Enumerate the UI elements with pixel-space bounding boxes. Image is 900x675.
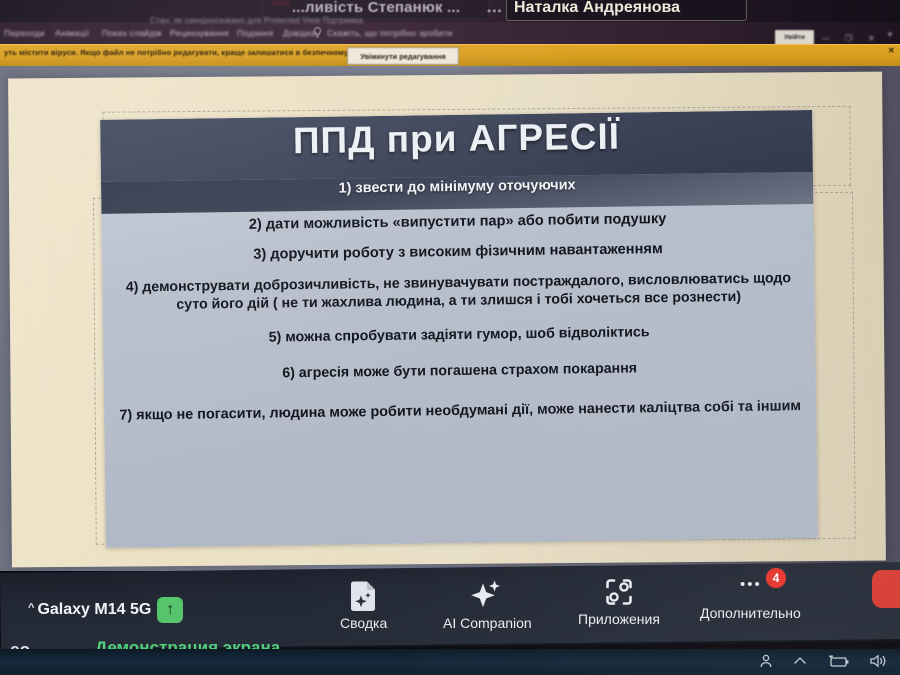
device-name-label: Galaxy M14 5G bbox=[37, 601, 151, 619]
toolbar-item-ai-companion[interactable]: AI Companion bbox=[443, 578, 532, 631]
toolbar-item-more[interactable]: Дополнительно bbox=[700, 605, 801, 621]
ribbon-item-slideshow[interactable]: Показ слайдів bbox=[102, 28, 162, 38]
chevron-up-icon[interactable] bbox=[792, 653, 808, 669]
toolbar-item-apps[interactable]: Приложения bbox=[578, 574, 660, 627]
participant-tile-active[interactable]: Наталка Андреянова bbox=[506, 0, 747, 21]
close-icon[interactable]: ✕ bbox=[888, 46, 895, 55]
chevron-up-icon[interactable]: ^ bbox=[28, 602, 34, 614]
window-minimize-button[interactable]: — bbox=[822, 34, 830, 43]
lightbulb-icon bbox=[313, 27, 322, 38]
sign-in-button[interactable]: Увійти bbox=[775, 30, 814, 45]
share-up-arrow-icon[interactable]: ↑ bbox=[157, 597, 183, 623]
toolbar-label-apps: Приложения bbox=[578, 611, 660, 627]
slide-item-3: 3) доручити роботу з високим фізичним на… bbox=[102, 239, 814, 267]
window-close-button[interactable]: ✕ bbox=[868, 34, 875, 43]
protected-view-message: уть містити віруси. Якщо файл не потрібн… bbox=[4, 48, 584, 57]
slide-body-text: 2) дати можливість «випустити пар» або п… bbox=[101, 206, 816, 437]
slide-item-6: 6) агресія може бути погашена страхом по… bbox=[104, 358, 816, 385]
ribbon-item-tell-me[interactable]: Скажіть, що потрібно зробити bbox=[327, 28, 453, 38]
slide-item-5: 5) можна спробувати задіяти гумор, шоб в… bbox=[103, 322, 815, 349]
slide-item-7: 7) якщо не погасити, людина може робити … bbox=[104, 397, 816, 426]
toolbar-label-more: Дополнительно bbox=[700, 605, 801, 621]
ribbon-item-help[interactable]: Довідка bbox=[283, 28, 316, 38]
screen-photo: ...ливість Степанюк ... ••• Наталка Андр… bbox=[0, 0, 900, 675]
slide-picture[interactable]: ППД при АГРЕСІЇ 1) звести до мінімуму от… bbox=[100, 110, 818, 548]
more-badge: 4 bbox=[765, 567, 787, 589]
toolbar-label-summary: Сводка bbox=[340, 615, 387, 631]
toolbar-item-summary[interactable]: Сводка bbox=[340, 578, 387, 631]
slide-canvas-area: ППД при АГРЕСІЇ 1) звести до мінімуму от… bbox=[0, 66, 900, 571]
ribbon-item-review[interactable]: Рецензування bbox=[170, 28, 229, 38]
ribbon-item-view[interactable]: Подання bbox=[237, 28, 273, 38]
system-tray[interactable] bbox=[758, 653, 888, 669]
person-icon[interactable] bbox=[758, 653, 774, 669]
apps-icon bbox=[603, 574, 635, 608]
window-extra-icon[interactable]: ▾ bbox=[888, 30, 892, 39]
summary-icon bbox=[349, 578, 379, 612]
slide-page[interactable]: ППД при АГРЕСІЇ 1) звести до мінімуму от… bbox=[8, 72, 886, 568]
volume-icon[interactable] bbox=[868, 653, 888, 669]
end-meeting-button[interactable] bbox=[872, 570, 900, 608]
more-icon[interactable]: ••• bbox=[740, 576, 762, 593]
ribbon-item-animations[interactable]: Анімації bbox=[55, 28, 89, 38]
screen-share-device-chip[interactable]: ^ Galaxy M14 5G ↑ bbox=[28, 597, 183, 623]
battery-icon[interactable] bbox=[826, 653, 850, 669]
document-title: Стан: як синхронізовано для Protected Vi… bbox=[150, 16, 510, 26]
ribbon-menu[interactable]: Переходи Анімації Показ слайдів Рецензув… bbox=[0, 28, 900, 44]
slide-item-2: 2) дати можливість «випустити пар» або п… bbox=[102, 209, 814, 237]
slide-item-4: 4) демонструвати доброзичливість, не зви… bbox=[102, 269, 814, 316]
enable-editing-button[interactable]: Увімкнути редагування bbox=[347, 47, 459, 65]
window-maximize-button[interactable]: ❐ bbox=[845, 34, 852, 43]
ribbon-item-transitions[interactable]: Переходи bbox=[4, 28, 45, 38]
sparkle-icon bbox=[467, 578, 507, 612]
toolbar-label-ai-companion: AI Companion bbox=[443, 615, 532, 631]
